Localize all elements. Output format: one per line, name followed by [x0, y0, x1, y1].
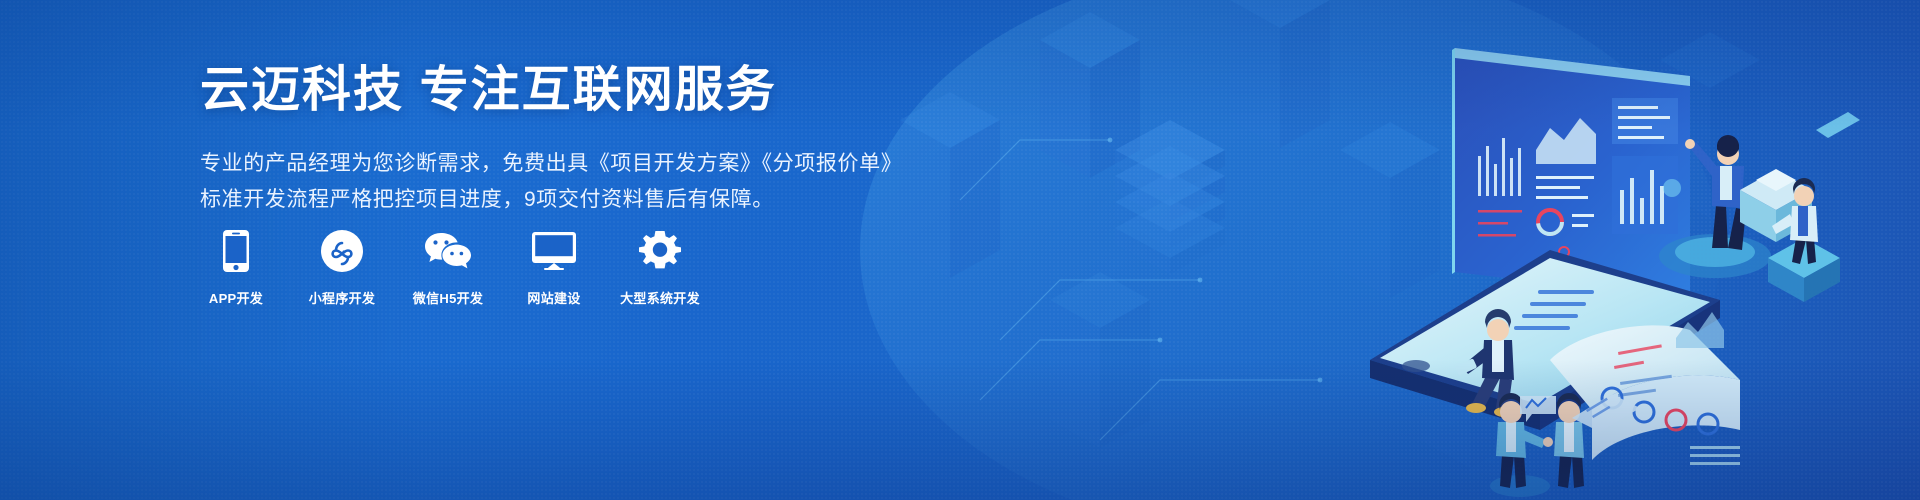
page-title: 云迈科技 专注互联网服务 — [200, 62, 960, 120]
hero-content: 云迈科技 专注互联网服务 专业的产品经理为您诊断需求，免费出具《项目开发方案》《… — [200, 62, 960, 218]
mini-card — [1572, 394, 1640, 432]
monitor-icon — [532, 228, 576, 274]
service-label: 网站建设 — [527, 288, 580, 307]
two-people-group — [1490, 393, 1584, 497]
gear-icon — [639, 228, 681, 274]
service-label: 微信H5开发 — [413, 288, 483, 307]
service-item-large-system[interactable]: 大型系统开发 — [624, 228, 696, 307]
mobile-phone-icon — [223, 228, 249, 274]
service-label: APP开发 — [209, 288, 263, 307]
service-label: 大型系统开发 — [620, 288, 700, 307]
sitting-person — [1455, 309, 1514, 417]
isometric-illustration — [1220, 0, 1860, 500]
hero-banner: 云迈科技 专注互联网服务 专业的产品经理为您诊断需求，免费出具《项目开发方案》《… — [0, 0, 1920, 500]
hero-description: 专业的产品经理为您诊断需求，免费出具《项目开发方案》《分项报价单》 标准开发流程… — [200, 146, 960, 218]
service-list: APP开发 小程序开发 — [200, 228, 696, 307]
service-item-website[interactable]: 网站建设 — [518, 228, 590, 307]
service-item-wechat-h5[interactable]: 微信H5开发 — [412, 228, 484, 307]
mini-program-icon — [321, 228, 363, 274]
wechat-icon — [424, 228, 472, 274]
dashboard-monitor — [1440, 48, 1690, 300]
description-line-2: 标准开发流程严格把控项目进度，9项交付资料售后有保障。 — [200, 182, 960, 218]
service-item-miniprogram[interactable]: 小程序开发 — [306, 228, 378, 307]
report-paper — [1550, 312, 1740, 465]
service-label: 小程序开发 — [309, 288, 376, 307]
service-item-app[interactable]: APP开发 — [200, 228, 272, 307]
phone-slab — [1370, 250, 1720, 430]
standing-person — [1659, 135, 1771, 278]
box-and-person — [1740, 112, 1860, 302]
description-line-1: 专业的产品经理为您诊断需求，免费出具《项目开发方案》《分项报价单》 — [200, 146, 960, 182]
